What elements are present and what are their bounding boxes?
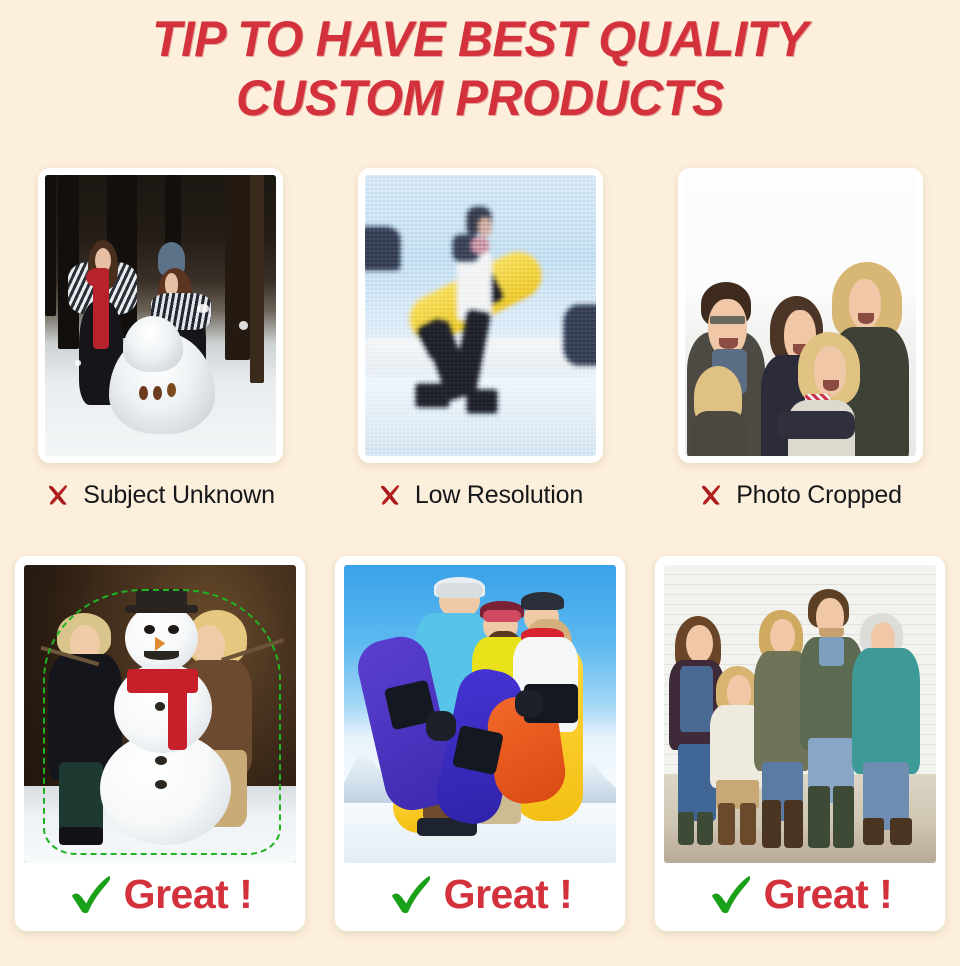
- x-mark-icon: [698, 481, 726, 509]
- subject-selection-outline: [43, 589, 281, 855]
- good-label-text: Great !: [764, 871, 893, 918]
- infographic-page: TIP TO HAVE BEST QUALITY CUSTOM PRODUCTS: [0, 0, 960, 960]
- good-label-snowman: Great !: [24, 863, 296, 927]
- photo-card: Great !: [655, 556, 945, 931]
- photo-card: [678, 168, 923, 463]
- photo-low-resolution: [365, 175, 596, 456]
- bad-example-low-resolution: Low Resolution: [330, 168, 630, 538]
- bad-label-photo-cropped: Photo Cropped: [698, 477, 902, 513]
- good-label-family: Great !: [664, 863, 936, 927]
- examples-grid: Subject Unknown: [0, 168, 960, 958]
- x-mark-icon: [377, 481, 405, 509]
- good-label-text: Great !: [444, 871, 573, 918]
- photo-photo-cropped: [685, 175, 916, 456]
- page-title-line-1: TIP TO HAVE BEST QUALITY: [14, 14, 945, 65]
- bad-example-photo-cropped: Photo Cropped: [650, 168, 950, 538]
- good-example-family: Great !: [650, 556, 950, 966]
- bad-label-text: Photo Cropped: [736, 481, 902, 510]
- photo-subject-unknown: [45, 175, 276, 456]
- page-title-line-2: CUSTOM PRODUCTS: [14, 73, 945, 124]
- photo-card: [358, 168, 603, 463]
- photo-snowman-selection: [24, 565, 296, 863]
- good-example-snowboarders: Great !: [330, 556, 630, 966]
- good-label-snowboarders: Great !: [344, 863, 616, 927]
- bad-label-text: Low Resolution: [415, 481, 583, 510]
- bad-label-low-resolution: Low Resolution: [377, 477, 583, 513]
- photo-snowboarders: [344, 565, 616, 863]
- check-mark-icon: [388, 873, 434, 915]
- photo-card: Great !: [335, 556, 625, 931]
- good-example-snowman: Great !: [10, 556, 310, 966]
- x-mark-icon: [45, 481, 73, 509]
- good-label-text: Great !: [124, 871, 253, 918]
- bad-label-subject-unknown: Subject Unknown: [45, 477, 275, 513]
- check-mark-icon: [708, 873, 754, 915]
- bad-examples-row: Subject Unknown: [0, 168, 960, 538]
- photo-card: Great !: [15, 556, 305, 931]
- good-examples-row: Great !: [0, 556, 960, 966]
- bad-label-text: Subject Unknown: [83, 481, 275, 510]
- bad-example-subject-unknown: Subject Unknown: [10, 168, 310, 538]
- page-header: TIP TO HAVE BEST QUALITY CUSTOM PRODUCTS: [0, 0, 960, 124]
- photo-card: [38, 168, 283, 463]
- check-mark-icon: [68, 873, 114, 915]
- photo-family-barn: [664, 565, 936, 863]
